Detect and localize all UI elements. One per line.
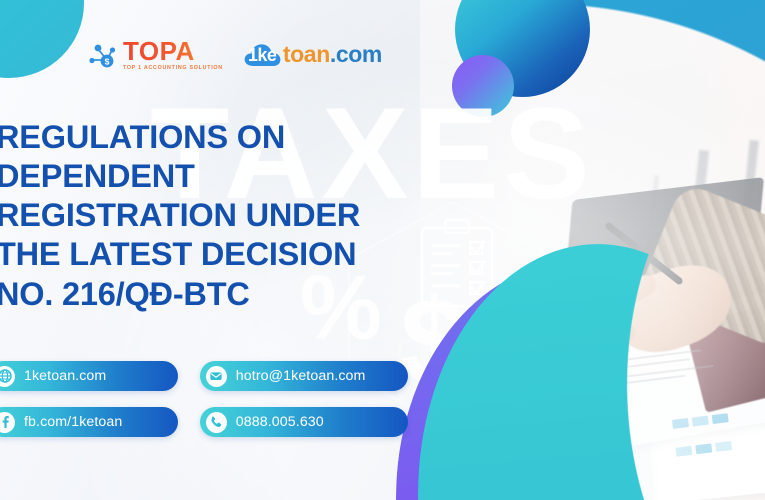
1ketoan-logo[interactable]: 1ke toan .com — [243, 40, 382, 70]
headline-line-2: DEPENDENT — [0, 157, 466, 196]
contact-label-website: 1ketoan.com — [24, 368, 158, 384]
contact-label-facebook: fb.com/1ketoan — [24, 414, 158, 430]
banner-canvas: % $ TAXES $ TOPA TOP 1 ACCOUNTING SOLUTI… — [0, 0, 765, 500]
logo-lockup: $ TOPA TOP 1 ACCOUNTING SOLUTION 1ke toa… — [88, 38, 382, 71]
site-name-suffix: toan — [283, 41, 330, 68]
contact-row-1: 1ketoan.com hotro@1ketoan.com — [0, 361, 408, 391]
headline-line-5: NO. 216/QĐ-BTC — [0, 275, 466, 314]
contact-row-2: fb.com/1ketoan 0888.005.630 — [0, 407, 408, 437]
contact-pill-facebook[interactable]: fb.com/1ketoan — [0, 407, 178, 437]
svg-text:$: $ — [105, 56, 110, 66]
topa-wordmark: TOPA — [123, 38, 223, 64]
headline-line-4: THE LATEST DECISION — [0, 235, 466, 274]
network-dollar-icon: $ — [88, 40, 118, 70]
contact-pill-website[interactable]: 1ketoan.com — [0, 361, 178, 391]
topa-logo[interactable]: $ TOPA TOP 1 ACCOUNTING SOLUTION — [88, 38, 223, 71]
page-title: REGULATIONS ON DEPENDENT REGISTRATION UN… — [0, 118, 466, 314]
globe-icon — [0, 366, 15, 387]
topa-tagline: TOP 1 ACCOUNTING SOLUTION — [123, 66, 223, 71]
contact-label-phone: 0888.005.630 — [236, 414, 388, 430]
headline-line-3: REGISTRATION UNDER — [0, 196, 466, 235]
site-name-tld: .com — [330, 41, 382, 68]
contact-label-email: hotro@1ketoan.com — [236, 368, 388, 384]
headline-line-1: REGULATIONS ON — [0, 118, 466, 157]
email-icon — [206, 366, 227, 387]
contact-pill-email[interactable]: hotro@1ketoan.com — [200, 361, 408, 391]
cloud-icon-label: 1ke — [248, 45, 277, 66]
contact-pill-phone[interactable]: 0888.005.630 — [200, 407, 408, 437]
cloud-icon: 1ke — [243, 40, 283, 70]
facebook-icon — [0, 412, 15, 433]
contact-pill-group: 1ketoan.com hotro@1ketoan.com — [0, 361, 408, 453]
phone-icon — [206, 412, 227, 433]
